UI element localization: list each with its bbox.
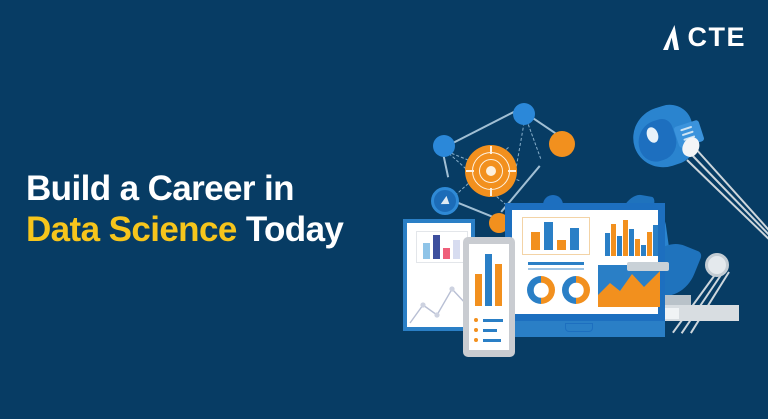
monitor-divider-line <box>528 268 584 270</box>
headline: Build a Career in Data Science Today <box>26 168 343 251</box>
monitor-boxed-bar-chart <box>522 217 590 255</box>
acte-a-mark-icon <box>663 25 687 50</box>
network-node <box>549 131 575 157</box>
tablet-screen <box>469 244 509 350</box>
tablet-bar <box>475 274 482 306</box>
monitor-dense-bar-chart <box>605 216 661 256</box>
monitor-divider-line <box>528 262 584 265</box>
network-node <box>433 135 455 157</box>
headline-line-1: Build a Career in <box>26 168 343 209</box>
acte-logo-text: CTE <box>688 22 747 53</box>
paper-bar-chart <box>416 231 468 263</box>
tablet-bar <box>495 264 502 306</box>
paper-line-chart <box>407 265 471 327</box>
acte-logo[interactable]: CTE <box>663 22 747 53</box>
network-node <box>513 103 535 125</box>
tablet-device <box>463 237 515 357</box>
headline-suffix: Today <box>246 210 343 249</box>
lamp-arm-icon <box>686 159 768 241</box>
monitor-donut-chart-left <box>527 276 555 304</box>
lamp-joint-icon <box>705 253 729 277</box>
target-icon <box>465 145 517 197</box>
monitor-donut-chart-right <box>562 276 590 304</box>
tablet-bar <box>485 254 492 306</box>
headline-accent: Data Science <box>26 210 237 249</box>
pen-cup-rim-icon <box>627 262 669 271</box>
monitor-notch <box>565 323 593 332</box>
monitor-area-chart <box>598 265 660 307</box>
cursor-node-icon <box>431 187 459 215</box>
data-science-illustration <box>395 95 768 375</box>
headline-line-2: Data Science Today <box>26 209 343 250</box>
promo-banner: CTE Build a Career in Data Science Today <box>0 0 768 419</box>
